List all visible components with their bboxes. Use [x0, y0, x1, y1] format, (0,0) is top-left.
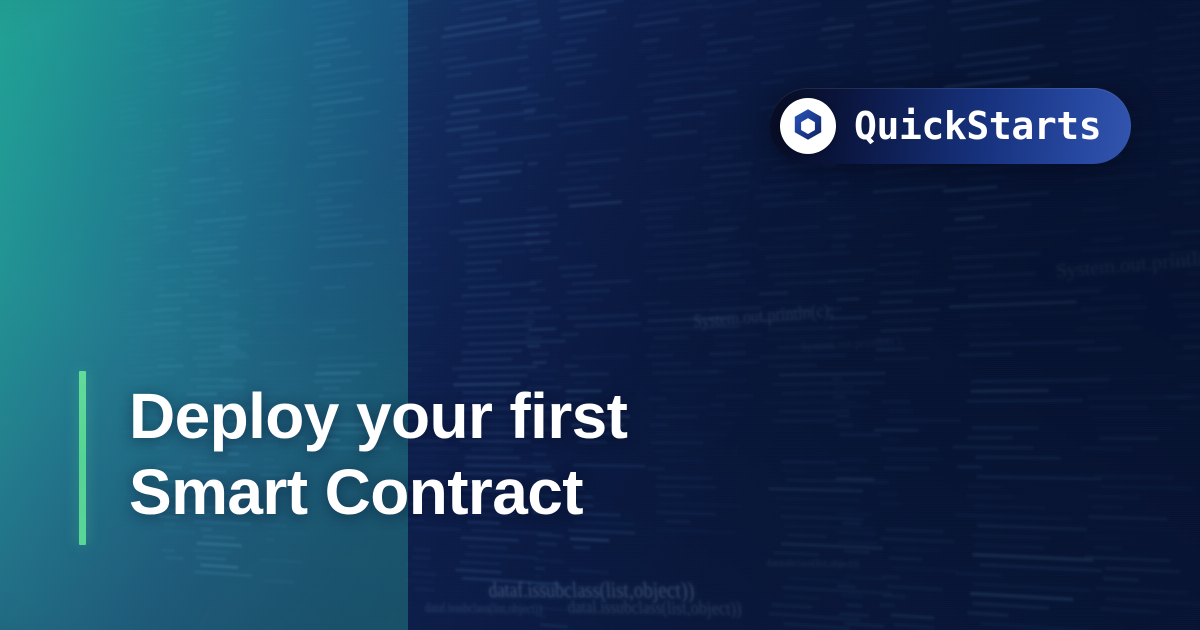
headline-block: Deploy your first Smart Contract: [79, 371, 627, 545]
accent-bar: [79, 371, 86, 545]
card-content: QuickStarts Deploy your first Smart Cont…: [0, 0, 1200, 630]
quickstarts-badge[interactable]: QuickStarts: [770, 88, 1131, 164]
chainlink-hexagon-icon: [780, 98, 836, 154]
badge-label: QuickStarts: [854, 107, 1101, 145]
page-title: Deploy your first Smart Contract: [129, 371, 627, 545]
title-line-1: Deploy your first: [129, 380, 627, 452]
title-line-2: Smart Contract: [129, 454, 627, 530]
social-share-card: data(issubclass(list,object))System.out.…: [0, 0, 1200, 630]
